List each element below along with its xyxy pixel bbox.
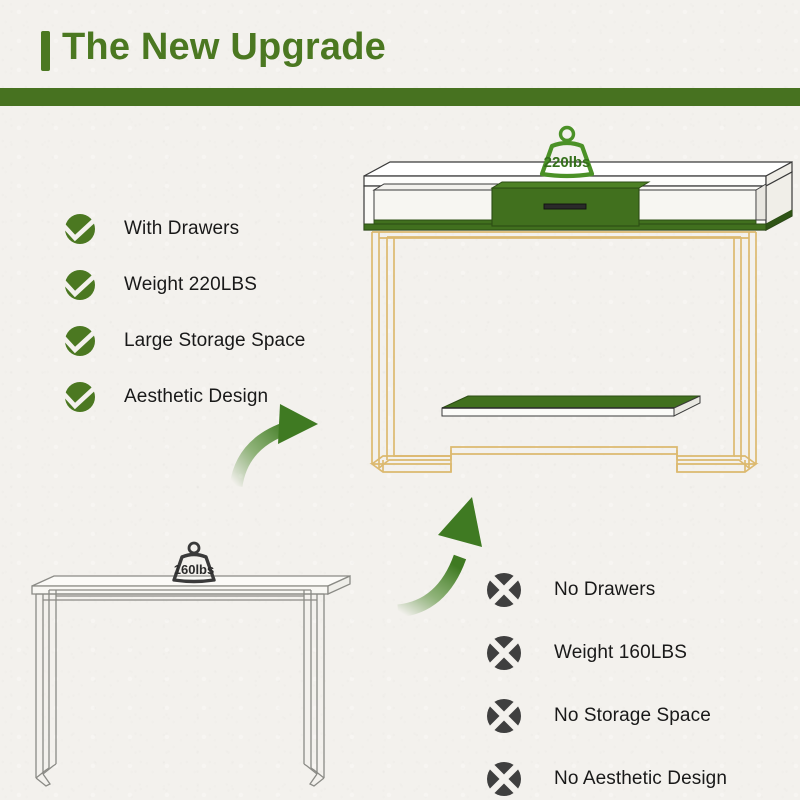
header-divider-bar [0, 88, 800, 106]
upgrade-arrow-left [232, 398, 362, 490]
upgrade-arrow-right [390, 495, 500, 615]
pros-feature-list: With Drawers Weight 220LBS Large Storage… [62, 202, 305, 426]
bottom-shelf [442, 396, 700, 416]
list-item: Large Storage Space [62, 314, 305, 368]
list-item-label: With Drawers [124, 218, 239, 240]
list-item-label: No Aesthetic Design [554, 768, 727, 790]
x-circle-icon [486, 698, 522, 734]
weight-badge-label-160: 160lbs [174, 562, 214, 577]
weight-badge-label-220: 220lbs [544, 154, 591, 171]
list-item: Weight 160LBS [486, 623, 727, 683]
list-item: No Drawers [486, 560, 727, 620]
weight-badge-160: 160lbs [174, 543, 214, 582]
check-circle-icon [62, 212, 96, 246]
x-circle-icon [486, 761, 522, 797]
list-item: Weight 220LBS [62, 258, 305, 312]
cons-feature-list: No Drawers Weight 160LBS No Storage Spac… [486, 560, 727, 800]
title-accent-bar [41, 31, 50, 71]
list-item-label: Large Storage Space [124, 330, 305, 352]
upgraded-console-table-illustration: 220lbs [356, 120, 800, 480]
check-circle-icon [62, 324, 96, 358]
list-item-label: No Storage Space [554, 705, 711, 727]
check-circle-icon [62, 380, 96, 414]
top-storage-unit [364, 162, 792, 230]
list-item-label: Weight 160LBS [554, 642, 687, 664]
list-item: With Drawers [62, 202, 305, 256]
list-item: No Aesthetic Design [486, 749, 727, 800]
check-circle-icon [62, 268, 96, 302]
x-circle-icon [486, 635, 522, 671]
list-item-label: Weight 220LBS [124, 274, 257, 296]
list-item-label: No Drawers [554, 579, 655, 601]
old-console-table-illustration: 160lbs [18, 540, 368, 800]
old-table-wireframe [32, 576, 350, 786]
infographic-canvas: The New Upgrade With Drawers Weight 220L… [0, 0, 800, 800]
page-title: The New Upgrade [62, 26, 386, 69]
list-item: No Storage Space [486, 686, 727, 746]
table-gold-frame [372, 232, 756, 472]
weight-badge-220: 220lbs [542, 128, 592, 177]
